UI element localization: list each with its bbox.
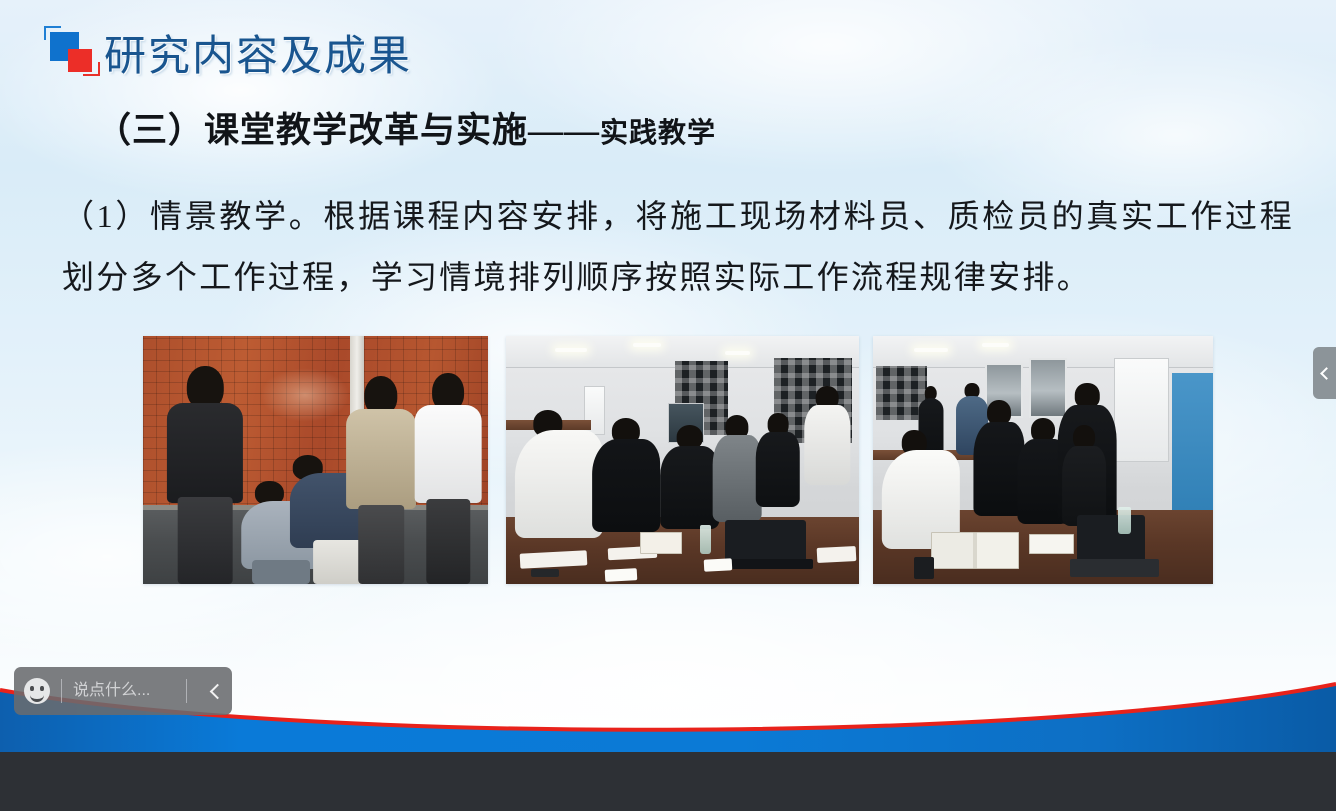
comment-bar-divider-left [61, 679, 62, 703]
slide-body-paragraph: （1）情景教学。根据课程内容安排，将施工现场材料员、质检员的真实工作过程划分多个… [62, 186, 1294, 308]
comment-bar-collapse-button[interactable] [198, 667, 232, 715]
side-panel-toggle[interactable] [1313, 347, 1336, 399]
presentation-slide: 研究内容及成果 （三）课堂教学改革与实施——实践教学 （1）情景教学。根据课程内… [0, 0, 1336, 752]
app-bottom-bar [0, 752, 1336, 811]
chevron-left-icon [209, 683, 225, 699]
subtitle-sub-text: 实践教学 [600, 118, 716, 149]
smiley-icon[interactable] [24, 678, 50, 704]
brand-logo-icon [44, 26, 100, 76]
chevron-left-icon [1320, 367, 1333, 380]
slide-header-title: 研究内容及成果 [104, 22, 412, 83]
comment-input[interactable] [73, 678, 175, 704]
photo-students-lab-reading [873, 336, 1213, 584]
subtitle-main-text: （三）课堂教学改革与实施—— [96, 111, 600, 150]
comment-bar[interactable] [14, 667, 232, 715]
comment-bar-divider-right [186, 679, 187, 703]
slide-header: 研究内容及成果 [0, 0, 1336, 92]
photo-strip [143, 336, 1213, 584]
photo-students-outdoor-tiled-wall [143, 336, 488, 584]
logo-corner-bottom-right [83, 62, 100, 76]
photo-students-lab-worktable [506, 336, 859, 584]
slide-subtitle: （三）课堂教学改革与实施——实践教学 [96, 102, 716, 153]
